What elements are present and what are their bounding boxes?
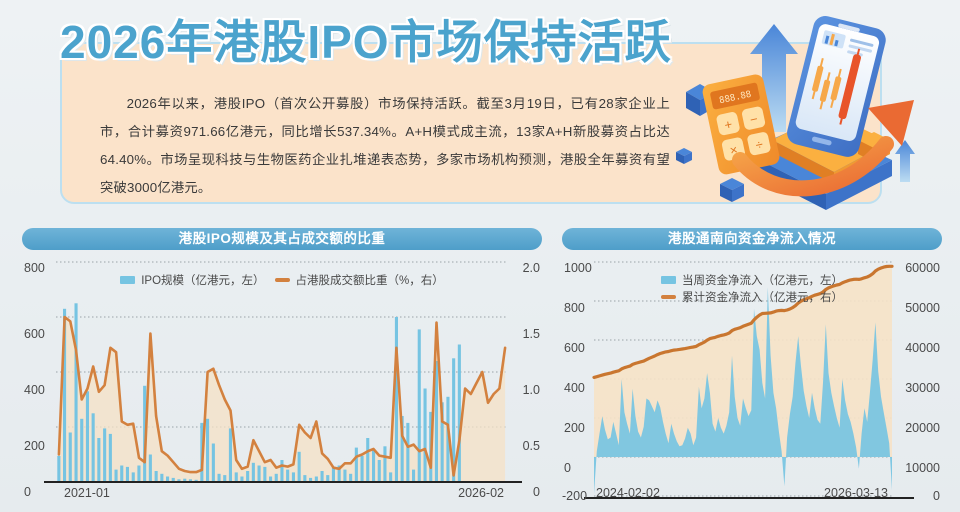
hero-body-text: 2026年以来，港股IPO（首次公开募股）市场保持活跃。截至3月19日，已有28… bbox=[100, 90, 670, 202]
right-tick-2.0: 2.0 bbox=[523, 261, 540, 275]
hero-section: 2026年港股IPO市场保持活跃 2026年以来，港股IPO（首次公开募股）市场… bbox=[22, 10, 938, 210]
left-tick-400: 400 bbox=[24, 383, 45, 397]
sb-left-tick-400: 400 bbox=[564, 381, 585, 395]
arrow-up-small-icon bbox=[895, 140, 915, 182]
chart-svg-southbound bbox=[562, 250, 942, 502]
illustration-svg: 888.88 + − × ÷ bbox=[662, 12, 960, 217]
sb-left-tick-0: 0 bbox=[564, 461, 571, 475]
right-tick-0.5: 0.5 bbox=[523, 439, 540, 453]
right-tick-0: 0 bbox=[533, 485, 540, 499]
decor-cube-bottom-icon bbox=[720, 178, 744, 202]
right-tick-1.0: 1.0 bbox=[523, 383, 540, 397]
sb-left-tick-1000: 1000 bbox=[564, 261, 592, 275]
chart-title-southbound: 港股通南向资金净流入情况 bbox=[562, 228, 942, 250]
chart-panel-southbound: 港股通南向资金净流入情况 当周资金净流入（亿港元，左） 累计资金净流入（亿港元，… bbox=[562, 228, 942, 508]
chart-plot-ipo: IPO规模（亿港元，左） 占港股成交额比重（%，右） 800 600 400 2… bbox=[22, 250, 542, 502]
x-tick-start-ipo: 2021-01 bbox=[64, 486, 110, 500]
sb-right-tick-30000: 30000 bbox=[905, 381, 940, 395]
sb-right-tick-20000: 20000 bbox=[905, 421, 940, 435]
chart-svg-ipo bbox=[22, 250, 542, 502]
chart-panel-ipo: 港股IPO规模及其占成交额的比重 IPO规模（亿港元，左） 占港股成交额比重（%… bbox=[22, 228, 542, 508]
right-tick-1.5: 1.5 bbox=[523, 327, 540, 341]
sb-right-tick-60000: 60000 bbox=[905, 261, 940, 275]
sb-right-tick-40000: 40000 bbox=[905, 341, 940, 355]
sb-left-tick-800: 800 bbox=[564, 301, 585, 315]
header-illustration: 888.88 + − × ÷ bbox=[662, 12, 960, 217]
hero-paragraph: 2026年以来，港股IPO（首次公开募股）市场保持活跃。截至3月19日，已有28… bbox=[100, 90, 670, 202]
infographic-page: 2026年港股IPO市场保持活跃 2026年以来，港股IPO（首次公开募股）市场… bbox=[0, 0, 960, 512]
decor-cube-small-icon bbox=[676, 148, 692, 164]
x-tick-start-sb: 2024-02-02 bbox=[596, 486, 660, 500]
chart-plot-southbound: 当周资金净流入（亿港元，左） 累计资金净流入（亿港元，右） 1000 800 6… bbox=[562, 250, 942, 502]
chart-title-ipo: 港股IPO规模及其占成交额的比重 bbox=[22, 228, 542, 250]
left-tick-0: 0 bbox=[24, 485, 31, 499]
x-tick-end-ipo: 2026-02 bbox=[458, 486, 504, 500]
x-tick-end-sb: 2026-03-13 bbox=[824, 486, 888, 500]
sb-left-tick-neg200: -200 bbox=[562, 489, 587, 503]
sb-left-tick-600: 600 bbox=[564, 341, 585, 355]
sb-right-tick-0: 0 bbox=[933, 489, 940, 503]
sb-right-tick-50000: 50000 bbox=[905, 301, 940, 315]
sb-right-tick-10000: 10000 bbox=[905, 461, 940, 475]
sb-left-tick-200: 200 bbox=[564, 421, 585, 435]
page-title: 2026年港股IPO市场保持活跃 bbox=[60, 6, 672, 72]
left-tick-800: 800 bbox=[24, 261, 45, 275]
left-tick-600: 600 bbox=[24, 327, 45, 341]
left-tick-200: 200 bbox=[24, 439, 45, 453]
